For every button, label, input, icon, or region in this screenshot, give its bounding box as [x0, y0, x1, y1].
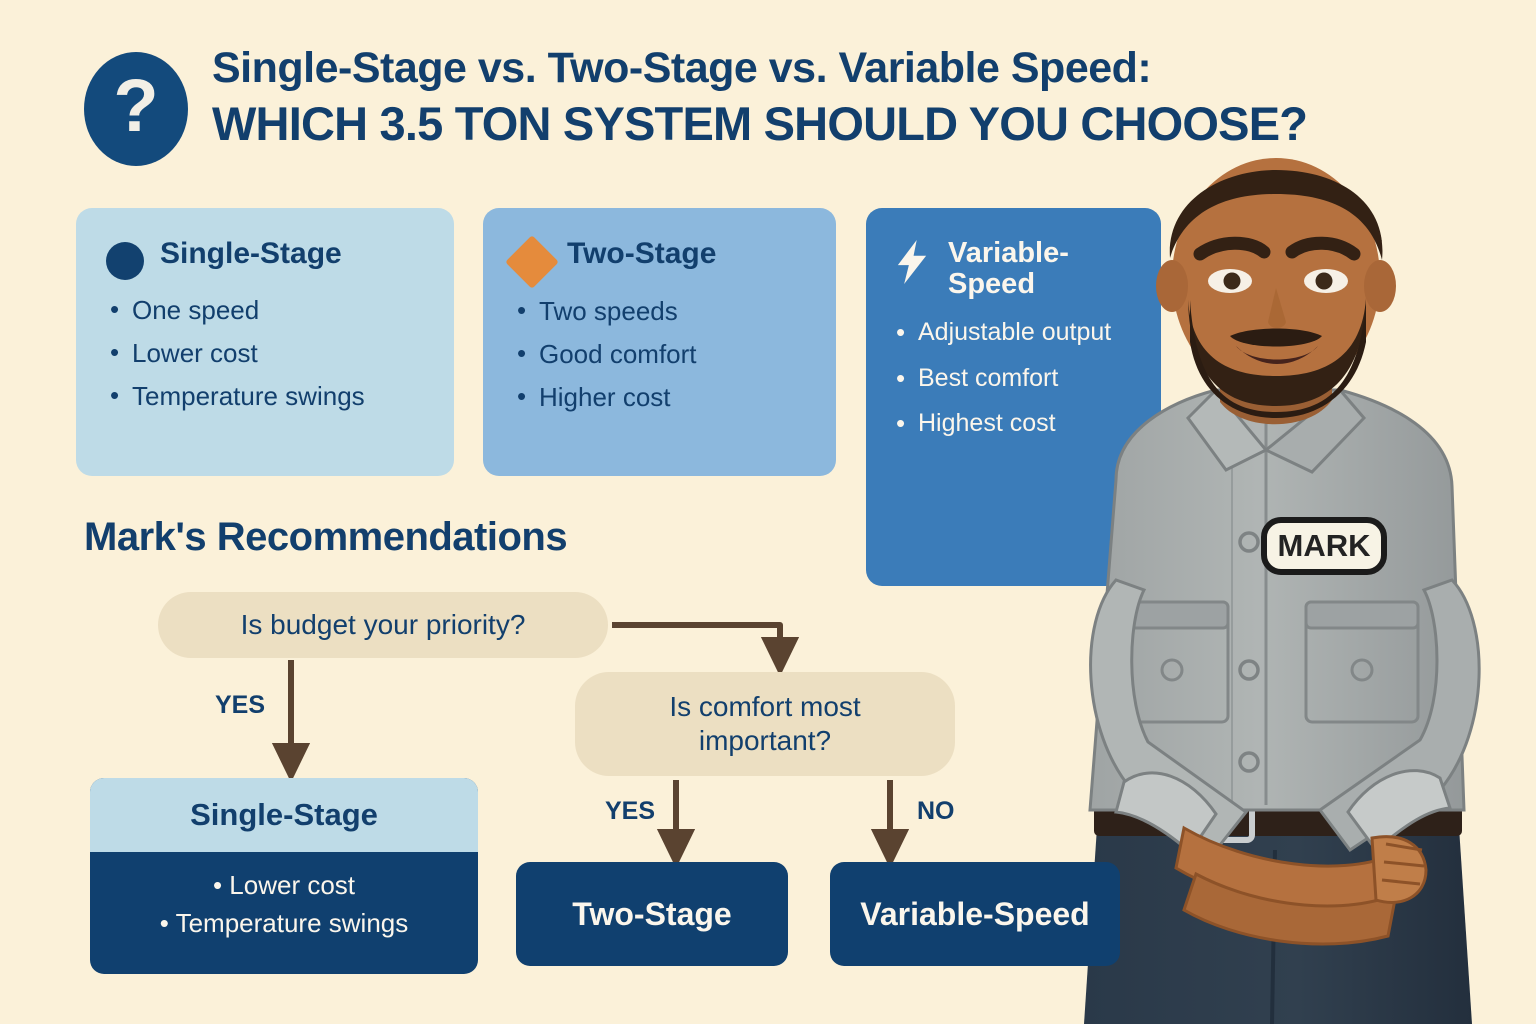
- title-lines: Single-Stage vs. Two-Stage vs. Variable …: [212, 44, 1432, 151]
- card-two-stage-title: Two-Stage: [567, 238, 716, 270]
- result-node-two-stage[interactable]: Two-Stage: [516, 862, 788, 966]
- result-node-single-stage[interactable]: Single-Stage • Lower cost • Temperature …: [90, 778, 478, 974]
- list-item: Two speeds: [513, 295, 810, 328]
- question-mark-icon: ?: [84, 52, 188, 166]
- arrow-budget-no: [612, 625, 780, 656]
- list-item: Good comfort: [513, 338, 810, 371]
- page-title-line-1: Single-Stage vs. Two-Stage vs. Variable …: [212, 44, 1432, 92]
- infographic-canvas: ? Single-Stage vs. Two-Stage vs. Variabl…: [0, 0, 1536, 1024]
- card-single-stage: Single-Stage One speed Lower cost Temper…: [76, 208, 454, 476]
- svg-text:MARK: MARK: [1278, 528, 1372, 563]
- result-variable-speed-label: Variable-Speed: [860, 896, 1089, 933]
- question-mark-glyph: ?: [113, 69, 158, 143]
- list-item: Temperature swings: [106, 380, 428, 413]
- list-item: • Lower cost: [90, 868, 478, 902]
- edge-label-comfort-yes: YES: [605, 797, 655, 826]
- diamond-icon: [505, 235, 559, 289]
- result-single-stage-bullets: • Lower cost • Temperature swings: [90, 852, 478, 941]
- list-item: • Temperature swings: [90, 906, 478, 940]
- edge-label-budget-yes: YES: [215, 691, 265, 720]
- card-single-stage-list: One speed Lower cost Temperature swings: [106, 294, 428, 412]
- decision-node-budget[interactable]: Is budget your priority?: [158, 592, 608, 658]
- result-two-stage-label: Two-Stage: [572, 896, 731, 933]
- list-item: One speed: [106, 294, 428, 327]
- list-item: Higher cost: [513, 381, 810, 414]
- card-two-stage-list: Two speeds Good comfort Higher cost: [513, 295, 810, 413]
- card-two-stage: Two-Stage Two speeds Good comfort Higher…: [483, 208, 836, 476]
- result-node-variable-speed[interactable]: Variable-Speed: [830, 862, 1120, 966]
- lightning-bolt-icon: [892, 240, 932, 284]
- page-title-line-2: WHICH 3.5 TON SYSTEM SHOULD YOU CHOOSE?: [212, 98, 1432, 151]
- result-single-stage-title: Single-Stage: [90, 778, 478, 852]
- edge-label-comfort-no: NO: [917, 797, 955, 826]
- list-item: Lower cost: [106, 337, 428, 370]
- decision-node-comfort[interactable]: Is comfort most important?: [575, 672, 955, 776]
- card-single-stage-title: Single-Stage: [160, 238, 342, 270]
- card-two-stage-header: Two-Stage: [513, 238, 810, 281]
- circle-icon: [106, 242, 144, 280]
- section-heading-recommendations: Mark's Recommendations: [84, 515, 567, 560]
- card-single-stage-header: Single-Stage: [106, 238, 428, 280]
